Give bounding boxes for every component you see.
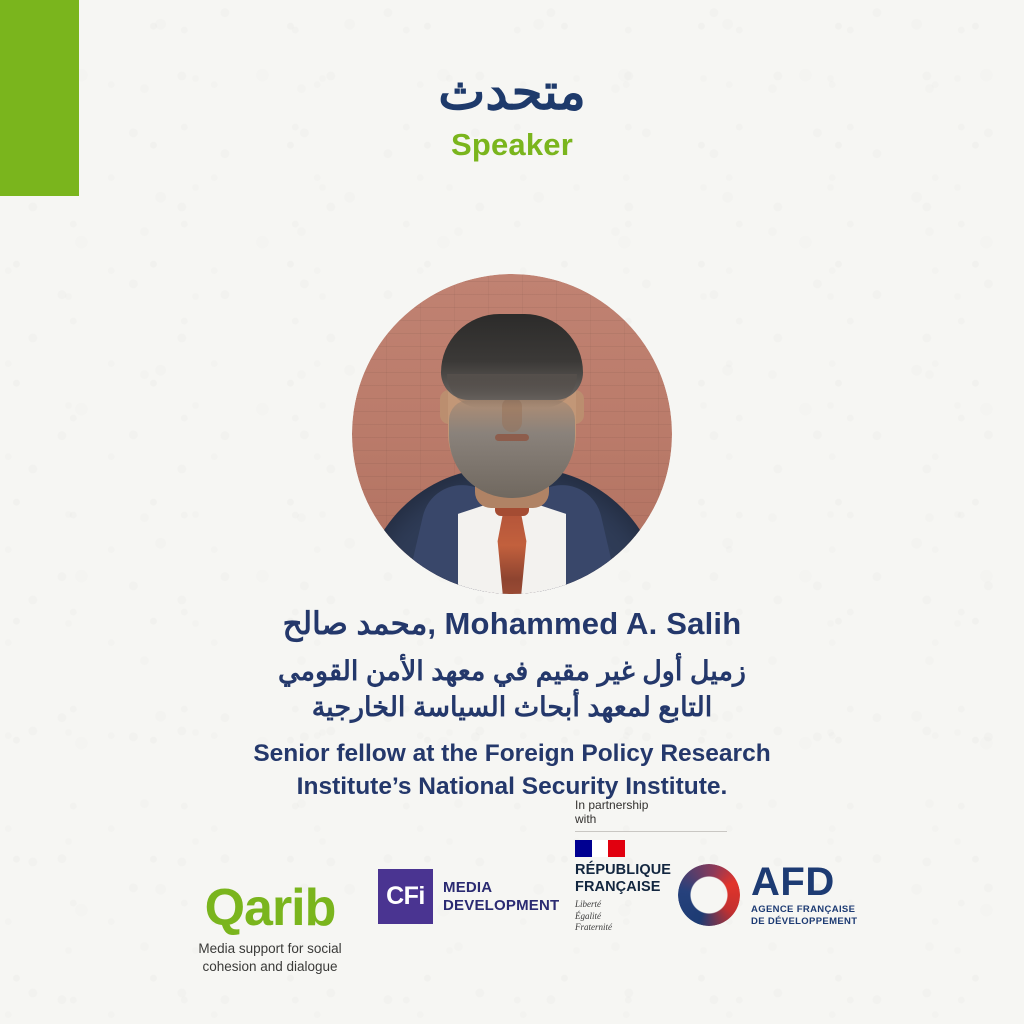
speaker-role-arabic-line2: التابع لمعهد أبحاث السياسة الخارجية bbox=[0, 689, 1024, 725]
flag-blue-band bbox=[575, 840, 592, 857]
speaker-role-arabic: زميل أول غير مقيم في معهد الأمن القومي ا… bbox=[0, 653, 1024, 725]
hair bbox=[441, 314, 583, 400]
partnership-label: In partnership with bbox=[575, 798, 727, 832]
speaker-info: محمد صالح, Mohammed A. Salih زميل أول غي… bbox=[0, 606, 1024, 804]
partnership-label-line1: In partnership bbox=[575, 798, 727, 812]
afd-subtitle-line1: AGENCE FRANÇAISE bbox=[751, 904, 857, 916]
cfi-mark-label: CFi bbox=[386, 882, 425, 911]
french-flag-icon bbox=[575, 840, 625, 857]
afd-subtitle: AGENCE FRANÇAISE DE DÉVELOPPEMENT bbox=[751, 904, 857, 928]
qarib-tagline-line2: cohesion and dialogue bbox=[182, 958, 358, 976]
afd-wordmark: AFD bbox=[751, 863, 857, 901]
cfi-mark: CFi bbox=[378, 869, 433, 924]
afd-ring-icon bbox=[678, 864, 740, 926]
afd-text-block: AFD AGENCE FRANÇAISE DE DÉVELOPPEMENT bbox=[751, 863, 857, 928]
footer-logos: Qarib Media support for social cohesion … bbox=[0, 852, 1024, 982]
afd-logo: AFD AGENCE FRANÇAISE DE DÉVELOPPEMENT bbox=[678, 863, 857, 928]
qarib-logo: Qarib Media support for social cohesion … bbox=[182, 884, 358, 976]
speaker-name: محمد صالح, Mohammed A. Salih bbox=[0, 606, 1024, 643]
afd-subtitle-line2: DE DÉVELOPPEMENT bbox=[751, 916, 857, 928]
partnership-label-line2: with bbox=[575, 812, 727, 826]
flag-white-band bbox=[592, 840, 608, 857]
speaker-role-english-line1: Senior fellow at the Foreign Policy Rese… bbox=[0, 737, 1024, 770]
qarib-tagline: Media support for social cohesion and di… bbox=[182, 940, 358, 976]
qarib-tagline-line1: Media support for social bbox=[182, 940, 358, 958]
speaker-role-arabic-line1: زميل أول غير مقيم في معهد الأمن القومي bbox=[0, 653, 1024, 689]
portrait-image bbox=[352, 274, 672, 594]
flag-red-band bbox=[608, 840, 625, 857]
qarib-wordmark: Qarib bbox=[182, 884, 358, 933]
title-english: Speaker bbox=[0, 127, 1024, 163]
title-arabic: متحدث bbox=[0, 66, 1024, 119]
partnership-divider bbox=[575, 831, 727, 832]
speaker-role-english: Senior fellow at the Foreign Policy Rese… bbox=[0, 737, 1024, 804]
cfi-logo: CFi MEDIA DEVELOPMENT bbox=[378, 869, 559, 924]
card-header: متحدث Speaker bbox=[0, 66, 1024, 163]
speaker-card: متحدث Speaker محمد صالح, Mohammed A. Sal… bbox=[0, 0, 1024, 1024]
cfi-text-line2: DEVELOPMENT bbox=[443, 897, 559, 914]
cfi-media-development-text: MEDIA DEVELOPMENT bbox=[443, 879, 559, 914]
mouth bbox=[495, 434, 529, 441]
cfi-text-line1: MEDIA bbox=[443, 879, 559, 896]
speaker-role-english-line2: Institute’s National Security Institute. bbox=[0, 770, 1024, 803]
speaker-avatar bbox=[352, 274, 672, 594]
